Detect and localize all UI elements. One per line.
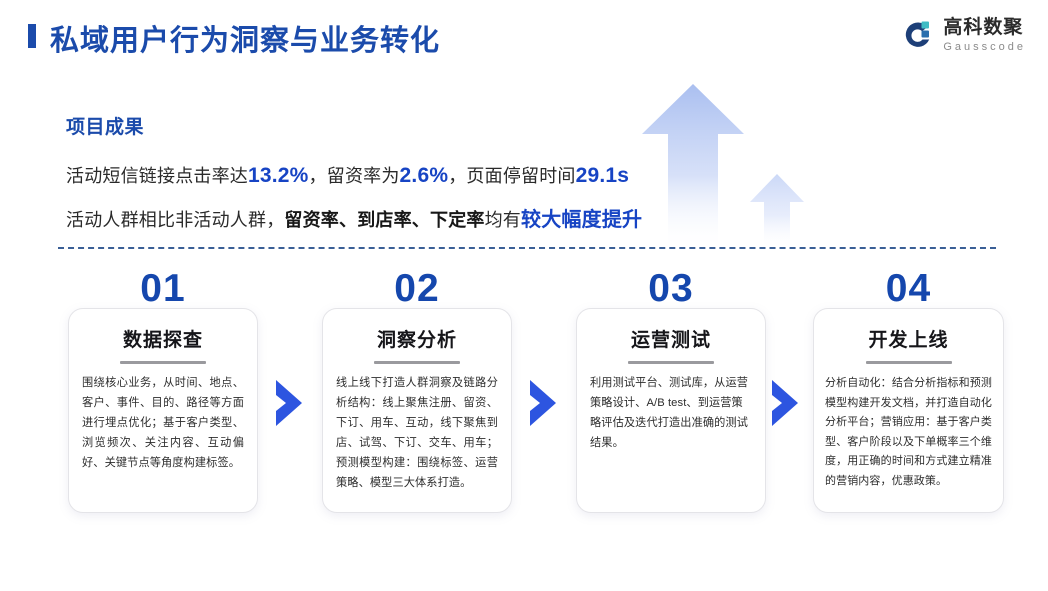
step-rule-3 xyxy=(628,361,714,364)
results-line2-seg1: 活动人群相比非活动人群， xyxy=(66,210,284,230)
step-title-1: 数据探查 xyxy=(69,325,257,352)
chevron-right-icon-1 xyxy=(272,378,306,428)
results-line2-seg2: 均有 xyxy=(485,210,521,230)
step-number-3: 03 xyxy=(577,267,765,311)
large-up-arrow-decoration xyxy=(640,82,746,250)
step-title-4: 开发上线 xyxy=(814,325,1003,352)
results-line2-highlight: 较大幅度提升 xyxy=(521,209,642,231)
step-body-2: 线上线下打造人群洞察及链路分析结构：线上聚焦注册、留资、下订、用车、互动，线下聚… xyxy=(336,374,498,494)
step-rule-2 xyxy=(374,361,460,364)
page-title: 私域用户行为洞察与业务转化 xyxy=(50,17,440,59)
results-line2-emphasis: 留资率、到店率、下定率 xyxy=(284,210,484,230)
step-number-2: 02 xyxy=(323,267,511,311)
small-up-arrow-decoration xyxy=(748,172,806,250)
metric-lead-rate: 2.6% xyxy=(400,164,449,187)
chevron-right-icon-2 xyxy=(526,378,560,428)
results-line1-seg1: 活动短信链接点击率达 xyxy=(66,166,248,186)
step-title-2: 洞察分析 xyxy=(323,325,511,352)
logo-name-en: Gausscode xyxy=(943,42,1026,53)
step-rule-4 xyxy=(866,361,952,364)
results-line1-seg2: ，留资率为 xyxy=(309,166,400,186)
results-line1-seg3: ，页面停留时间 xyxy=(448,166,575,186)
chevron-right-icon-3 xyxy=(768,378,802,428)
step-number-1: 01 xyxy=(69,267,257,311)
title-accent-marker xyxy=(28,24,36,48)
gausscode-logo-icon xyxy=(900,19,934,53)
step-number-4: 04 xyxy=(814,267,1003,311)
logo-name-cn: 高科数聚 xyxy=(943,18,1026,37)
results-heading: 项目成果 xyxy=(66,112,144,139)
step-body-1: 围绕核心业务，从时间、地点、客户、事件、目的、路径等方面进行埋点优化；基于客户类… xyxy=(82,374,244,474)
step-body-4: 分析自动化：结合分析指标和预测模型构建开发文档，并打造自动化分析平台；营销应用：… xyxy=(825,374,992,491)
step-body-3: 利用测试平台、测试库，从运营策略设计、A/B test、到运营策略评估及迭代打造… xyxy=(590,374,752,454)
results-line-2: 活动人群相比非活动人群，留资率、到店率、下定率均有较大幅度提升 xyxy=(66,203,642,232)
step-title-3: 运营测试 xyxy=(577,325,765,352)
step-card-1[interactable]: 01 数据探查 围绕核心业务，从时间、地点、客户、事件、目的、路径等方面进行埋点… xyxy=(68,308,258,513)
step-card-4[interactable]: 04 开发上线 分析自动化：结合分析指标和预测模型构建开发文档，并打造自动化分析… xyxy=(813,308,1004,513)
dashed-divider xyxy=(58,247,996,249)
brand-logo: 高科数聚 Gausscode xyxy=(900,18,1026,53)
step-rule-1 xyxy=(120,361,206,364)
metric-click-rate: 13.2% xyxy=(248,164,309,187)
results-line-1: 活动短信链接点击率达13.2%，留资率为2.6%，页面停留时间29.1s xyxy=(66,162,629,188)
step-card-3[interactable]: 03 运营测试 利用测试平台、测试库，从运营策略设计、A/B test、到运营策… xyxy=(576,308,766,513)
metric-dwell-time: 29.1s xyxy=(576,164,630,187)
slide-canvas: 私域用户行为洞察与业务转化 高科数聚 Gausscode xyxy=(0,0,1048,591)
step-card-2[interactable]: 02 洞察分析 线上线下打造人群洞察及链路分析结构：线上聚焦注册、留资、下订、用… xyxy=(322,308,512,513)
